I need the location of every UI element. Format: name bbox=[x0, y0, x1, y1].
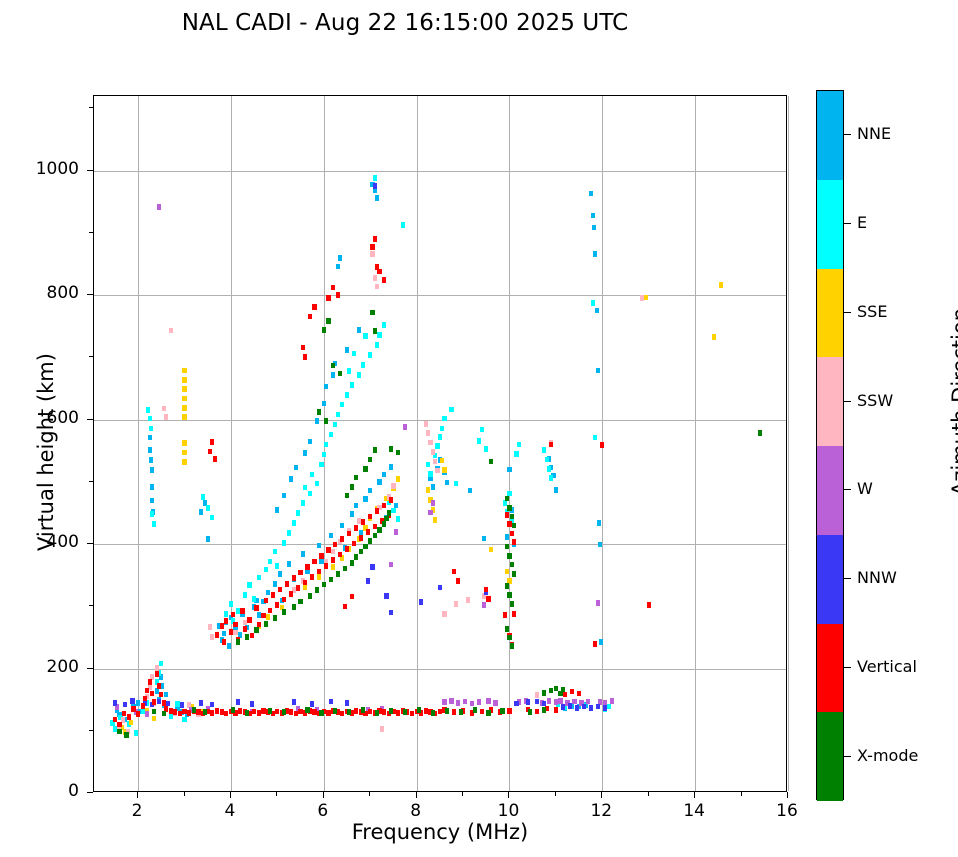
data-point-w bbox=[403, 424, 407, 430]
data-point-vertical bbox=[563, 692, 567, 698]
x-tick-label: 8 bbox=[386, 801, 446, 821]
data-point-x-mode bbox=[329, 577, 333, 583]
data-point-nne bbox=[593, 251, 597, 257]
data-point-w bbox=[449, 698, 453, 704]
data-point-e bbox=[361, 362, 365, 368]
data-point-sse bbox=[182, 450, 186, 456]
x-tick bbox=[694, 792, 695, 798]
data-point-e bbox=[182, 717, 186, 723]
data-point-vertical bbox=[145, 688, 149, 694]
data-point-e bbox=[148, 416, 152, 422]
data-point-x-mode bbox=[528, 709, 532, 715]
colorbar-tick bbox=[844, 401, 851, 402]
y-tick-label: 0 bbox=[19, 781, 79, 801]
data-point-vertical bbox=[647, 602, 651, 608]
data-point-x-mode bbox=[350, 484, 354, 490]
data-point-nne bbox=[308, 439, 312, 445]
data-point-vertical bbox=[554, 707, 558, 713]
data-point-ssw bbox=[454, 601, 458, 607]
data-point-vertical bbox=[382, 503, 386, 509]
data-point-ssw bbox=[424, 421, 428, 427]
data-point-vertical bbox=[178, 711, 182, 717]
data-point-x-mode bbox=[308, 593, 312, 599]
data-point-x-mode bbox=[331, 363, 335, 369]
data-point-nne bbox=[338, 255, 342, 261]
y-tick-label: 1000 bbox=[19, 159, 79, 179]
data-point-sse bbox=[152, 716, 156, 722]
data-point-ssw bbox=[375, 284, 379, 290]
data-point-vertical bbox=[377, 269, 381, 275]
data-point-vertical bbox=[303, 580, 307, 586]
data-point-ssw bbox=[535, 692, 539, 698]
data-point-vertical bbox=[512, 611, 516, 617]
data-point-nnw bbox=[419, 599, 423, 605]
colorbar-segment-w bbox=[817, 446, 843, 535]
data-point-w bbox=[157, 204, 161, 210]
data-point-nne bbox=[315, 418, 319, 424]
data-point-ssw bbox=[380, 726, 384, 732]
x-tick-label: 14 bbox=[664, 801, 724, 821]
x-tick-label: 2 bbox=[107, 801, 167, 821]
colorbar-tick bbox=[844, 667, 851, 668]
data-point-vertical bbox=[600, 442, 604, 448]
data-point-w bbox=[493, 700, 497, 706]
data-point-e bbox=[442, 416, 446, 422]
data-point-e bbox=[373, 175, 377, 181]
data-point-nne bbox=[340, 523, 344, 529]
data-point-nne bbox=[289, 476, 293, 482]
data-point-w bbox=[477, 699, 481, 705]
data-point-vertical bbox=[312, 304, 316, 310]
data-point-nnw bbox=[373, 183, 377, 189]
data-point-vertical bbox=[410, 711, 414, 717]
data-point-sse bbox=[440, 458, 444, 464]
data-point-nne bbox=[148, 447, 152, 453]
data-point-nne bbox=[206, 536, 210, 542]
data-point-x-mode bbox=[554, 686, 558, 692]
data-point-e bbox=[375, 342, 379, 348]
data-point-x-mode bbox=[505, 544, 509, 550]
data-point-sse bbox=[433, 517, 437, 523]
data-point-x-mode bbox=[282, 709, 286, 715]
data-point-vertical bbox=[331, 557, 335, 563]
colorbar-segment-x-mode bbox=[817, 712, 843, 801]
data-point-sse bbox=[182, 414, 186, 420]
data-point-sse bbox=[182, 405, 186, 411]
data-point-e bbox=[333, 422, 337, 428]
data-point-vertical bbox=[505, 512, 509, 518]
data-point-x-mode bbox=[245, 634, 249, 640]
x-tick-minor bbox=[555, 792, 556, 796]
data-point-ssw bbox=[162, 406, 166, 412]
data-point-ssw bbox=[428, 440, 432, 446]
colorbar-label-e: E bbox=[857, 213, 867, 232]
data-point-ssw bbox=[640, 295, 644, 301]
data-point-ssw bbox=[442, 611, 446, 617]
colorbar-label-vertical: Vertical bbox=[857, 657, 917, 676]
data-point-vertical bbox=[570, 689, 574, 695]
y-tick bbox=[87, 792, 93, 793]
data-point-vertical bbox=[347, 531, 351, 537]
data-point-e bbox=[301, 500, 305, 506]
colorbar-tick bbox=[844, 578, 851, 579]
data-point-vertical bbox=[296, 585, 300, 591]
data-point-x-mode bbox=[512, 571, 516, 577]
data-point-x-mode bbox=[507, 505, 511, 511]
data-point-nne bbox=[592, 225, 596, 231]
data-point-e bbox=[545, 457, 549, 463]
data-point-x-mode bbox=[324, 418, 328, 424]
colorbar-segment-sse bbox=[817, 269, 843, 358]
data-point-e bbox=[268, 559, 272, 565]
data-point-sse bbox=[644, 295, 648, 301]
data-point-nnw bbox=[389, 610, 393, 616]
y-tick bbox=[87, 419, 93, 420]
x-tick-minor bbox=[462, 792, 463, 796]
data-point-vertical bbox=[127, 714, 131, 720]
data-point-nne bbox=[368, 488, 372, 494]
data-point-nne bbox=[331, 372, 335, 378]
data-point-vertical bbox=[294, 711, 298, 717]
data-point-e bbox=[438, 434, 442, 440]
data-point-nne bbox=[136, 700, 140, 706]
data-point-x-mode bbox=[268, 708, 272, 714]
data-point-ssw bbox=[357, 518, 361, 524]
data-point-vertical bbox=[233, 622, 237, 628]
data-point-nnw bbox=[113, 700, 117, 706]
data-point-vertical bbox=[308, 314, 312, 320]
data-point-x-mode bbox=[305, 707, 309, 713]
data-point-vertical bbox=[215, 708, 219, 714]
data-point-x-mode bbox=[558, 691, 562, 697]
data-point-vertical bbox=[238, 708, 242, 714]
data-point-e bbox=[480, 427, 484, 433]
data-point-nne bbox=[150, 498, 154, 504]
data-point-e bbox=[257, 575, 261, 581]
data-point-vertical bbox=[131, 706, 135, 712]
data-point-vertical bbox=[310, 574, 314, 580]
data-point-vertical bbox=[243, 626, 247, 632]
data-point-e bbox=[322, 452, 326, 458]
data-point-vertical bbox=[252, 709, 256, 715]
data-point-e bbox=[514, 451, 518, 457]
data-point-nne bbox=[257, 612, 261, 618]
data-point-vertical bbox=[336, 292, 340, 298]
data-point-vertical bbox=[340, 711, 344, 717]
data-point-vertical bbox=[162, 700, 166, 706]
data-point-e bbox=[440, 426, 444, 432]
data-point-vertical bbox=[370, 244, 374, 250]
colorbar bbox=[816, 90, 844, 800]
data-point-nne bbox=[266, 590, 270, 596]
data-point-vertical bbox=[298, 570, 302, 576]
data-point-e bbox=[454, 481, 458, 487]
data-point-e bbox=[252, 596, 256, 602]
data-point-vertical bbox=[298, 709, 302, 715]
data-point-w bbox=[428, 510, 432, 516]
data-point-x-mode bbox=[292, 604, 296, 610]
data-point-x-mode bbox=[384, 516, 388, 522]
data-point-vertical bbox=[220, 623, 224, 629]
data-point-nne bbox=[148, 435, 152, 441]
data-point-e bbox=[547, 466, 551, 472]
data-point-nne bbox=[155, 688, 159, 694]
data-point-x-mode bbox=[445, 708, 449, 714]
data-point-vertical bbox=[577, 691, 581, 697]
data-point-vertical bbox=[424, 708, 428, 714]
data-point-x-mode bbox=[505, 626, 509, 632]
data-point-nnw bbox=[236, 699, 240, 705]
data-point-vertical bbox=[340, 536, 344, 542]
data-point-nnw bbox=[310, 701, 314, 707]
data-point-e bbox=[134, 730, 138, 736]
data-point-vertical bbox=[486, 596, 490, 602]
data-point-vertical bbox=[220, 709, 224, 715]
data-point-vertical bbox=[319, 553, 323, 559]
data-point-ssw bbox=[164, 414, 168, 420]
data-point-e bbox=[593, 435, 597, 441]
data-point-e bbox=[146, 407, 150, 413]
colorbar-label-x-mode: X-mode bbox=[857, 746, 918, 765]
data-point-nne bbox=[222, 631, 226, 637]
colorbar-label-nne: NNE bbox=[857, 124, 891, 143]
data-point-w bbox=[456, 700, 460, 706]
data-point-ssw bbox=[426, 430, 430, 436]
data-point-vertical bbox=[352, 541, 356, 547]
data-point-vertical bbox=[208, 449, 212, 455]
data-point-e bbox=[477, 438, 481, 444]
data-point-x-mode bbox=[368, 457, 372, 463]
data-point-vertical bbox=[312, 709, 316, 715]
y-tick bbox=[87, 294, 93, 295]
data-point-ssw bbox=[155, 665, 159, 671]
data-point-w bbox=[442, 699, 446, 705]
data-point-x-mode bbox=[326, 318, 330, 324]
data-point-ssw bbox=[370, 251, 374, 257]
data-point-vertical bbox=[150, 691, 154, 697]
data-point-e bbox=[324, 442, 328, 448]
data-point-w bbox=[610, 698, 614, 704]
data-point-e bbox=[310, 472, 314, 478]
data-point-nne bbox=[377, 479, 381, 485]
colorbar-label-sse: SSE bbox=[857, 302, 887, 321]
data-point-nne bbox=[507, 467, 511, 473]
data-point-vertical bbox=[173, 709, 177, 715]
data-point-vertical bbox=[224, 711, 228, 717]
data-point-vertical bbox=[389, 497, 393, 503]
data-point-nne bbox=[294, 465, 298, 471]
data-point-w bbox=[470, 701, 474, 707]
data-point-vertical bbox=[271, 592, 275, 598]
data-point-nne bbox=[275, 507, 279, 513]
data-point-nnw bbox=[561, 704, 565, 710]
data-point-nne bbox=[445, 480, 449, 486]
data-point-nne bbox=[319, 559, 323, 565]
data-point-vertical bbox=[303, 354, 307, 360]
data-point-w bbox=[463, 699, 467, 705]
data-point-x-mode bbox=[396, 450, 400, 456]
data-point-x-mode bbox=[264, 621, 268, 627]
data-point-vertical bbox=[254, 605, 258, 611]
data-point-sse bbox=[317, 574, 321, 580]
data-point-vertical bbox=[268, 608, 272, 614]
data-point-sse bbox=[331, 564, 335, 570]
data-point-e bbox=[607, 704, 611, 710]
data-point-vertical bbox=[213, 456, 217, 462]
data-point-w bbox=[486, 698, 490, 704]
data-point-e bbox=[247, 582, 251, 588]
data-point-nnw bbox=[514, 701, 518, 707]
data-point-nne bbox=[596, 368, 600, 374]
data-point-vertical bbox=[343, 604, 347, 610]
data-point-vertical bbox=[368, 514, 372, 520]
data-point-nne bbox=[199, 509, 203, 515]
data-point-vertical bbox=[275, 709, 279, 715]
data-point-vertical bbox=[359, 535, 363, 541]
data-point-e bbox=[141, 708, 145, 714]
data-point-vertical bbox=[368, 709, 372, 715]
data-point-vertical bbox=[152, 699, 156, 705]
x-tick bbox=[787, 792, 788, 798]
data-point-e bbox=[336, 412, 340, 418]
data-point-e bbox=[426, 462, 430, 468]
data-point-vertical bbox=[326, 710, 330, 716]
data-point-ssw bbox=[169, 328, 173, 334]
data-point-x-mode bbox=[231, 707, 235, 713]
data-point-ssw bbox=[243, 620, 247, 626]
data-point-vertical bbox=[373, 524, 377, 530]
data-point-e bbox=[435, 443, 439, 449]
data-point-x-mode bbox=[322, 582, 326, 588]
data-point-nnw bbox=[603, 705, 607, 711]
colorbar-tick bbox=[844, 134, 851, 135]
data-point-e bbox=[201, 494, 205, 500]
data-point-vertical bbox=[354, 708, 358, 714]
colorbar-tick bbox=[844, 223, 851, 224]
data-point-ssw bbox=[466, 597, 470, 603]
data-point-nnw bbox=[123, 702, 127, 708]
data-point-x-mode bbox=[507, 635, 511, 641]
data-point-vertical bbox=[331, 285, 335, 291]
data-point-sse bbox=[129, 720, 133, 726]
data-point-sse bbox=[426, 487, 430, 493]
data-point-nne bbox=[324, 384, 328, 390]
data-point-vertical bbox=[512, 539, 516, 545]
data-point-vertical bbox=[122, 711, 126, 717]
data-point-vertical bbox=[222, 639, 226, 645]
data-point-vertical bbox=[301, 345, 305, 351]
data-point-nne bbox=[589, 191, 593, 197]
data-point-x-mode bbox=[417, 707, 421, 713]
data-point-e bbox=[303, 485, 307, 491]
data-point-x-mode bbox=[354, 475, 358, 481]
data-point-nnw bbox=[250, 701, 254, 707]
data-point-vertical bbox=[510, 531, 514, 537]
data-point-ssw bbox=[208, 624, 212, 630]
data-point-nne bbox=[468, 488, 472, 494]
data-point-vertical bbox=[282, 597, 286, 603]
data-point-nnw bbox=[180, 702, 184, 708]
data-point-vertical bbox=[285, 581, 289, 587]
data-point-sse bbox=[182, 377, 186, 383]
data-point-vertical bbox=[373, 236, 377, 242]
y-tick-label: 800 bbox=[19, 283, 79, 303]
data-point-vertical bbox=[382, 277, 386, 283]
data-point-vertical bbox=[231, 612, 235, 618]
data-point-vertical bbox=[182, 709, 186, 715]
data-point-vertical bbox=[157, 683, 161, 689]
data-point-nnw bbox=[526, 699, 530, 705]
data-point-x-mode bbox=[758, 430, 762, 436]
data-point-ssw bbox=[121, 717, 125, 723]
data-point-x-mode bbox=[542, 707, 546, 713]
x-tick-label: 10 bbox=[478, 801, 538, 821]
data-point-e bbox=[377, 332, 381, 338]
data-point-e bbox=[391, 508, 395, 514]
x-tick bbox=[230, 792, 231, 798]
colorbar-segment-nnw bbox=[817, 535, 843, 624]
data-point-nnw bbox=[157, 699, 161, 705]
data-point-ssw bbox=[210, 634, 214, 640]
data-point-x-mode bbox=[510, 601, 514, 607]
data-point-nne bbox=[591, 213, 595, 219]
data-point-e bbox=[296, 510, 300, 516]
data-point-e bbox=[152, 521, 156, 527]
data-point-e bbox=[236, 608, 240, 614]
data-point-vertical bbox=[141, 703, 145, 709]
data-point-vertical bbox=[210, 439, 214, 445]
data-point-e bbox=[175, 701, 179, 707]
data-point-x-mode bbox=[345, 493, 349, 499]
data-point-vertical bbox=[507, 708, 511, 714]
data-point-nnw bbox=[568, 703, 572, 709]
data-point-x-mode bbox=[282, 609, 286, 615]
x-tick-label: 4 bbox=[200, 801, 260, 821]
data-point-vertical bbox=[289, 591, 293, 597]
data-point-x-mode bbox=[361, 707, 365, 713]
data-point-nnw bbox=[292, 699, 296, 705]
y-tick-minor bbox=[89, 356, 93, 357]
data-point-x-mode bbox=[373, 447, 377, 453]
x-tick bbox=[508, 792, 509, 798]
data-point-x-mode bbox=[117, 729, 121, 735]
colorbar-segment-vertical bbox=[817, 624, 843, 713]
data-point-x-mode bbox=[507, 592, 511, 598]
data-point-x-mode bbox=[368, 538, 372, 544]
data-point-x-mode bbox=[542, 690, 546, 696]
data-point-nnw bbox=[384, 593, 388, 599]
data-point-ssw bbox=[233, 630, 237, 636]
data-point-nnw bbox=[345, 700, 349, 706]
data-point-x-mode bbox=[336, 571, 340, 577]
data-point-x-mode bbox=[245, 710, 249, 716]
data-point-vertical bbox=[117, 722, 121, 728]
data-point-nne bbox=[164, 692, 168, 698]
data-point-vertical bbox=[375, 508, 379, 514]
data-point-sse bbox=[442, 467, 446, 473]
data-point-nne bbox=[317, 543, 321, 549]
data-point-vertical bbox=[338, 552, 342, 558]
data-point-w bbox=[547, 698, 551, 704]
data-point-w bbox=[586, 699, 590, 705]
data-point-x-mode bbox=[317, 409, 321, 415]
data-point-x-mode bbox=[505, 583, 509, 589]
data-point-x-mode bbox=[338, 371, 342, 377]
x-tick-minor bbox=[648, 792, 649, 796]
data-point-nnw bbox=[366, 578, 370, 584]
data-point-e bbox=[329, 432, 333, 438]
data-point-e bbox=[357, 372, 361, 378]
